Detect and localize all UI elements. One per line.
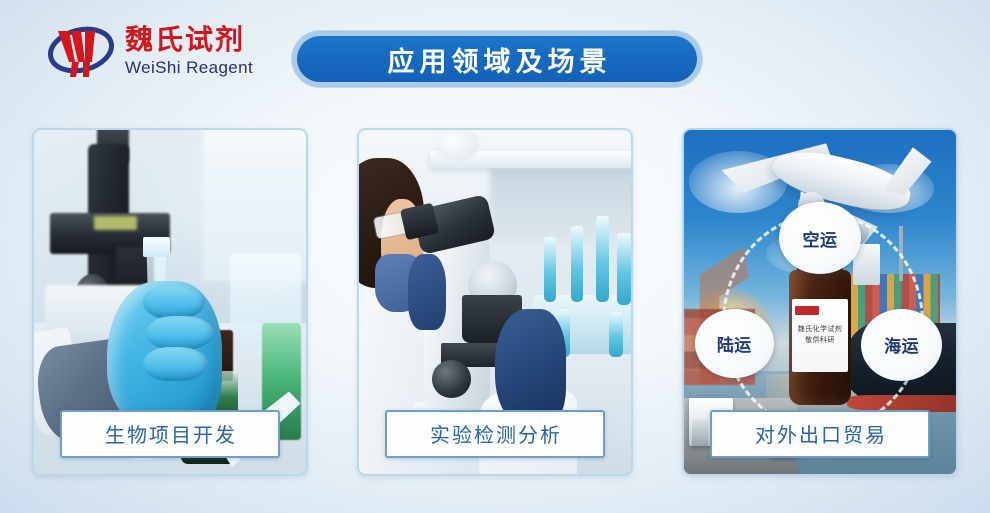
test-tube bbox=[571, 226, 583, 302]
glove-finger bbox=[143, 285, 206, 319]
badge-land-freight-label: 陆运 bbox=[717, 331, 752, 356]
shelf-shadow bbox=[490, 168, 631, 244]
microscope-focus-knob bbox=[432, 360, 470, 398]
card-caption: 实验检测分析 bbox=[385, 410, 605, 458]
card-caption-text: 实验检测分析 bbox=[407, 419, 583, 448]
flask-neck bbox=[143, 237, 170, 258]
badge-sea-freight-label: 海运 bbox=[884, 332, 919, 357]
badge-sea-freight: 海运 bbox=[861, 309, 943, 381]
truck-cab bbox=[692, 419, 708, 447]
bottle-label: 魏氏化学试剂 敬供科研 bbox=[792, 299, 849, 372]
glove-finger bbox=[146, 316, 214, 350]
blue-glove-hand-left bbox=[408, 254, 446, 330]
test-tube bbox=[617, 233, 631, 305]
card-export-trade[interactable]: 魏氏化学试剂 敬供科研 空运 陆运 海运 对外出口贸易 bbox=[682, 128, 958, 476]
glove-finger bbox=[143, 347, 208, 381]
card-caption: 对外出口贸易 bbox=[710, 410, 930, 458]
blue-glove-hand-right bbox=[495, 309, 566, 426]
badge-land-freight: 陆运 bbox=[695, 309, 774, 378]
card-caption-text: 生物项目开发 bbox=[82, 419, 258, 448]
microscope-slide bbox=[94, 216, 138, 230]
application-cards: 生物项目开发 bbox=[0, 0, 990, 513]
test-tube bbox=[609, 312, 623, 357]
badge-air-freight-label: 空运 bbox=[802, 226, 837, 251]
bottle-label-logo bbox=[795, 306, 819, 315]
card-caption-text: 对外出口贸易 bbox=[732, 419, 908, 448]
reagent-bottle: 魏氏化学试剂 敬供科研 bbox=[785, 254, 856, 405]
bottle-label-line2: 敬供科研 bbox=[805, 337, 835, 346]
card-caption: 生物项目开发 bbox=[60, 410, 280, 458]
microscope-eyepiece bbox=[399, 202, 438, 239]
badge-air-freight: 空运 bbox=[779, 202, 861, 274]
card-biology-project[interactable]: 生物项目开发 bbox=[32, 128, 308, 476]
test-tube bbox=[544, 237, 556, 302]
shelf-glassware bbox=[435, 130, 479, 161]
bottle-label-line1: 魏氏化学试剂 bbox=[798, 326, 842, 335]
test-tube bbox=[596, 216, 610, 302]
card-lab-analysis[interactable]: 实验检测分析 bbox=[357, 128, 633, 476]
